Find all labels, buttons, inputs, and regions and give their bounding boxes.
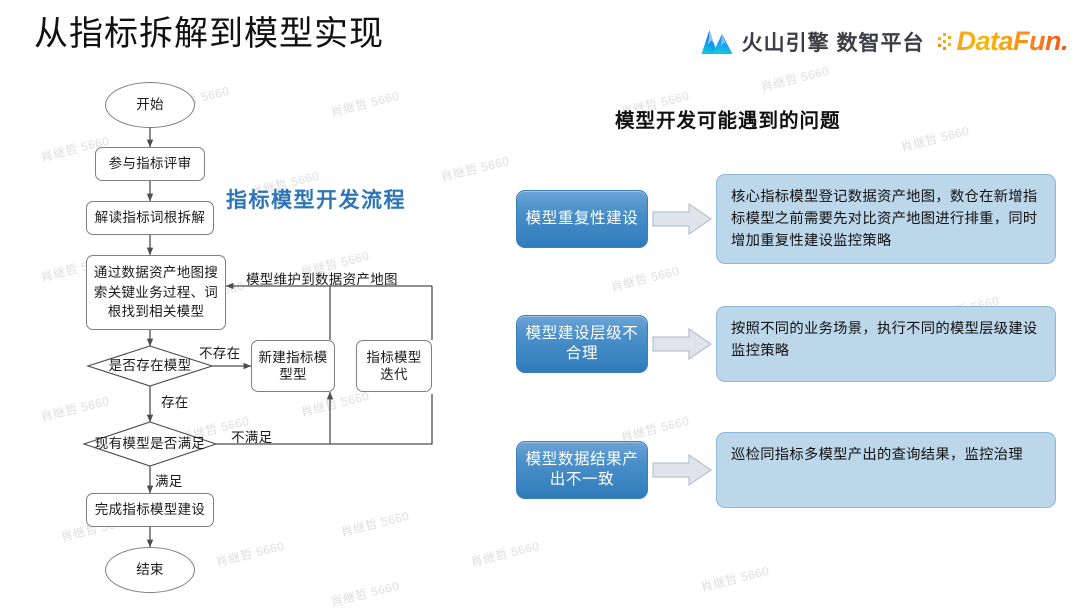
datafun-logo: DataFun.	[938, 26, 1068, 57]
flow-node-decision-satisfy[interactable]: 现有模型是否满足	[84, 424, 216, 464]
edge-label-not-satisfy: 不满足	[231, 426, 272, 446]
flow-node-decision-exists[interactable]: 是否存在模型	[88, 346, 212, 386]
flow-node-end[interactable]: 结束	[105, 547, 195, 593]
volcano-engine-text: 火山引擎 数智平台	[742, 27, 925, 57]
problems-heading: 模型开发可能遇到的问题	[615, 104, 841, 133]
edge-label-maintain: 模型维护到数据资产地图	[246, 268, 398, 288]
problem-tag[interactable]: 模型重复性建设	[516, 190, 648, 248]
flow-node-start[interactable]: 开始	[105, 82, 195, 128]
logo-bar: 火山引擎 数智平台 DataFun.	[701, 26, 1068, 57]
flowchart-heading: 指标模型开发流程	[226, 184, 406, 214]
slide-root: 肖继哲 5660 肖继哲 5660 肖继哲 5660 肖继哲 5660 肖继哲 …	[0, 0, 1080, 608]
datafun-dots-icon	[938, 31, 953, 53]
edge-label-not-exists: 不存在	[199, 342, 240, 362]
flow-node-iterate[interactable]: 指标模型迭代	[356, 340, 432, 392]
arrow-right-icon	[648, 324, 716, 364]
flow-node-new-model[interactable]: 新建指标模型型	[251, 340, 335, 392]
problem-tag[interactable]: 模型建设层级不合理	[516, 315, 648, 373]
flow-node-review[interactable]: 参与指标评审	[95, 147, 205, 181]
edge-label-exists: 存在	[161, 391, 189, 411]
problem-row: 模型重复性建设 核心指标模型登记数据资产地图，数仓在新增指标模型之前需要先对比资…	[500, 174, 1080, 264]
arrow-right-icon	[648, 199, 716, 239]
problem-tag[interactable]: 模型数据结果产出不一致	[516, 441, 648, 499]
datafun-text: DataFun.	[956, 26, 1068, 57]
arrow-right-icon	[648, 450, 716, 490]
problem-desc: 核心指标模型登记数据资产地图，数仓在新增指标模型之前需要先对比资产地图进行排重，…	[716, 174, 1056, 264]
problem-row: 模型数据结果产出不一致 巡检同指标多模型产出的查询结果，监控治理	[500, 432, 1080, 508]
problem-row: 模型建设层级不合理 按照不同的业务场景，执行不同的模型层级建设监控策略	[500, 306, 1080, 382]
edge-label-satisfy: 满足	[155, 470, 183, 490]
problem-desc: 巡检同指标多模型产出的查询结果，监控治理	[716, 432, 1056, 508]
flow-node-finish[interactable]: 完成指标模型建设	[86, 493, 214, 527]
problems-panel: 模型开发可能遇到的问题 模型重复性建设 核心指标模型登记数据资产地图，数仓在新增…	[500, 74, 1080, 608]
volcano-mountain-icon	[701, 29, 733, 55]
flowchart: 指标模型开发流程 开始 参与指标评审 解读指标词根拆解 通过数据资产地图搜索关键…	[0, 74, 540, 608]
flow-node-decode[interactable]: 解读指标词根拆解	[86, 201, 214, 235]
flow-node-search[interactable]: 通过数据资产地图搜索关键业务过程、词根找到相关模型	[86, 255, 226, 330]
page-title: 从指标拆解到模型实现	[34, 16, 384, 53]
volcano-engine-logo: 火山引擎 数智平台	[701, 27, 925, 57]
problem-desc: 按照不同的业务场景，执行不同的模型层级建设监控策略	[716, 306, 1056, 382]
